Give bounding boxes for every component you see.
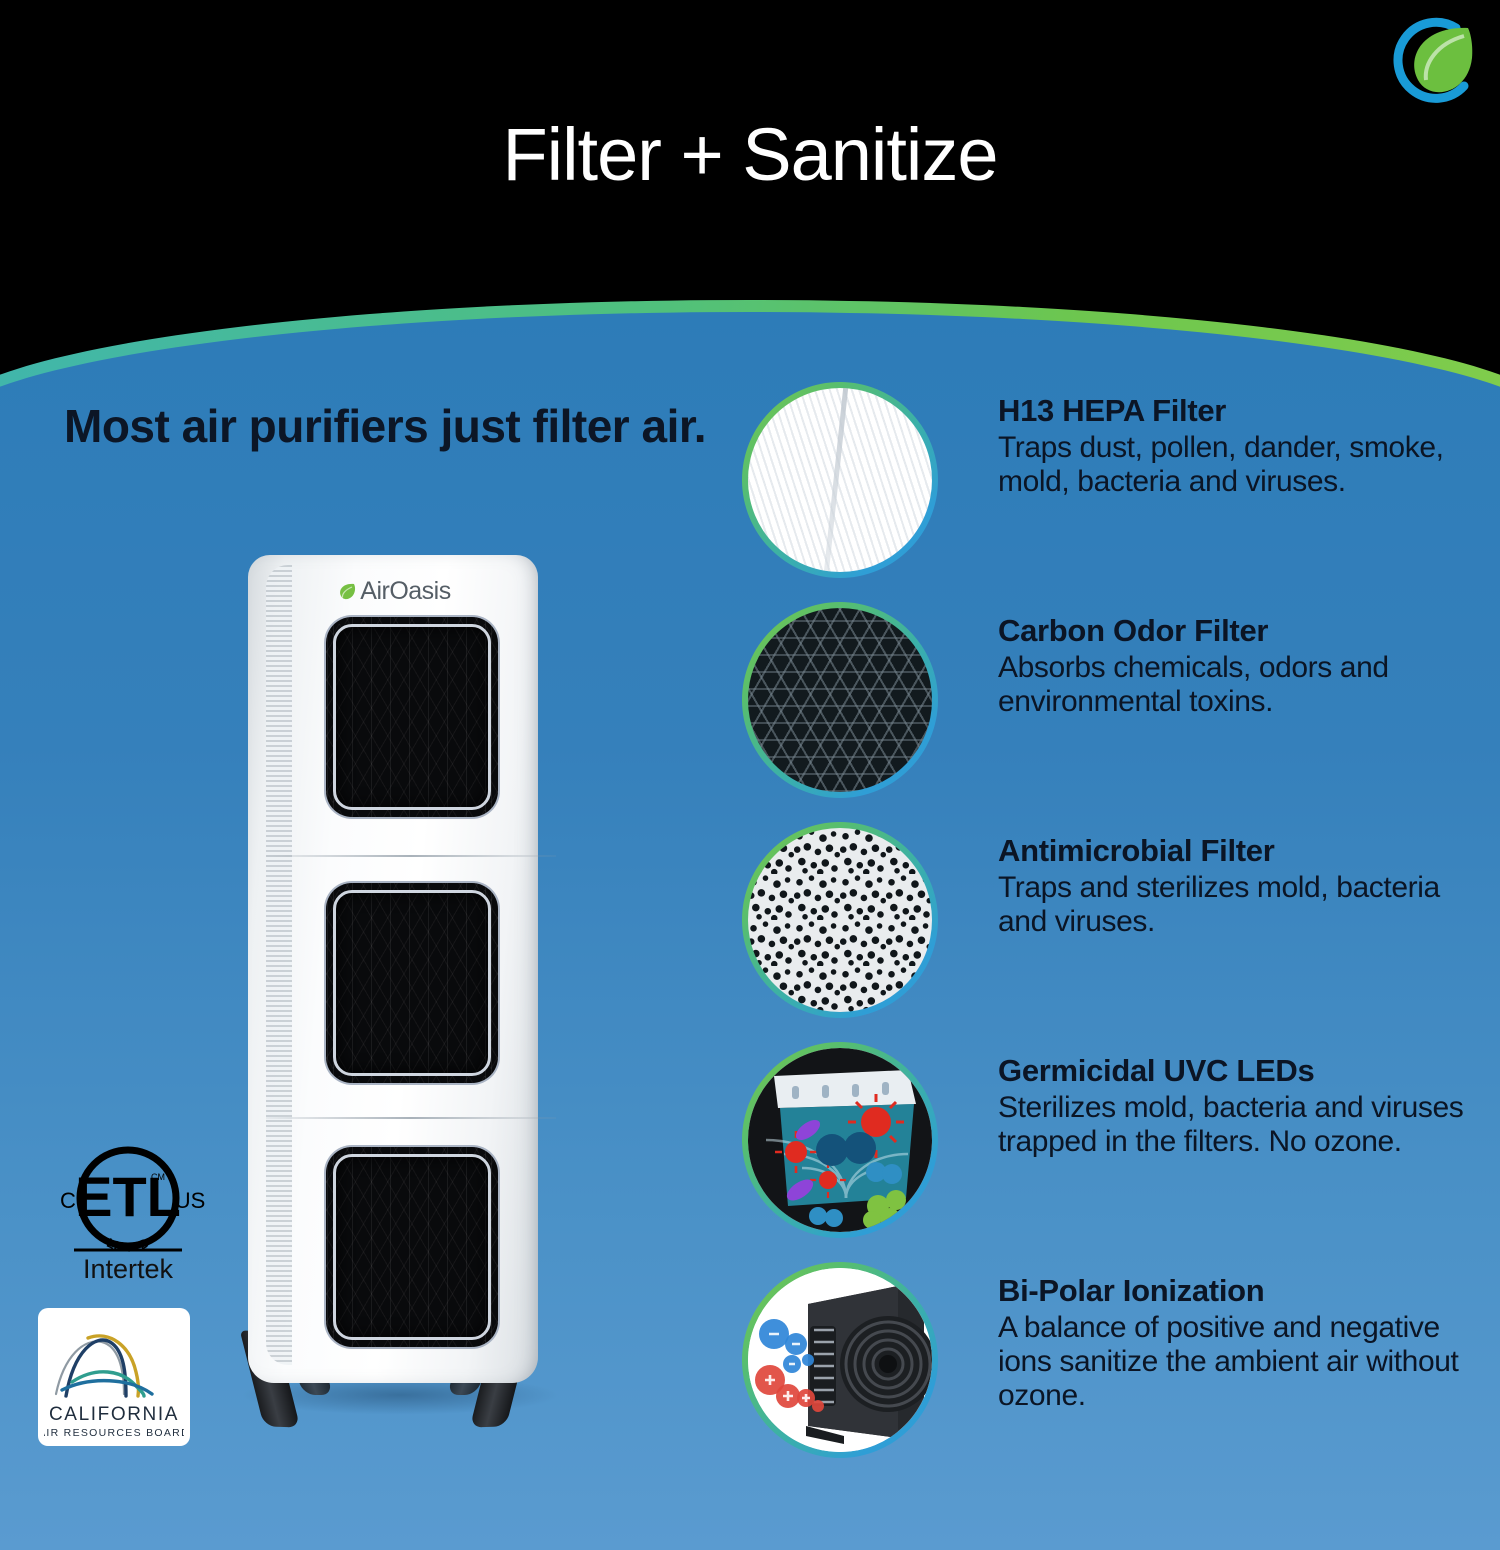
feature-description: Traps and sterilizes mold, bacteria and … [998, 871, 1468, 939]
device-brand-logo: AirOasis [230, 577, 556, 606]
feature-list: H13 HEPA Filter Traps dust, pollen, dand… [742, 382, 1482, 1492]
left-headline: Most air purifiers just filter air. [40, 398, 730, 454]
feature-item: Antimicrobial Filter Traps and sterilize… [742, 822, 1482, 1042]
feature-item: Germicidal UVC LEDs Sterilizes mold, bac… [742, 1042, 1482, 1262]
feature-title: Bi-Polar Ionization [998, 1274, 1468, 1309]
hepa-filter-thumbnail [742, 382, 938, 578]
etl-us-letters: US [175, 1188, 206, 1213]
etl-mark-text: ETL [75, 1165, 181, 1228]
etl-listed-arc-text: LISTED [105, 1235, 152, 1255]
device-side-vent [266, 565, 292, 1365]
device-brand-name: AirOasis [360, 577, 450, 606]
feature-description: A balance of positive and negative ions … [998, 1311, 1468, 1414]
bipolar-ionization-thumbnail [742, 1262, 938, 1458]
device-panel-seam [266, 1117, 556, 1119]
etl-c-letter: C [60, 1188, 76, 1213]
feature-item: Carbon Odor Filter Absorbs chemicals, od… [742, 602, 1482, 822]
feature-item: Bi-Polar Ionization A balance of positiv… [742, 1262, 1482, 1492]
antimicrobial-filter-thumbnail [742, 822, 938, 1018]
california-air-resources-board-badge: CALIFORNIA AIR RESOURCES BOARD [38, 1308, 190, 1446]
feature-item: H13 HEPA Filter Traps dust, pollen, dand… [742, 382, 1482, 602]
air-purifier-product-image: AirOasis [230, 555, 560, 1435]
feature-title: H13 HEPA Filter [998, 394, 1468, 429]
etl-tm-mark: CM [151, 1172, 165, 1182]
carb-title: CALIFORNIA [49, 1404, 179, 1425]
feature-description: Sterilizes mold, bacteria and viruses tr… [998, 1091, 1468, 1159]
feature-title: Germicidal UVC LEDs [998, 1054, 1468, 1089]
device-filter-grille [326, 617, 498, 817]
device-housing [248, 555, 538, 1383]
etl-company-name: Intertek [83, 1254, 174, 1284]
leaf-icon [335, 581, 357, 603]
carbon-filter-thumbnail [742, 602, 938, 798]
feature-title: Carbon Odor Filter [998, 614, 1468, 649]
etl-listed-badge: ETL LISTED C US CM Intertek [38, 1140, 218, 1285]
uvc-led-thumbnail [742, 1042, 938, 1238]
device-panel-seam [266, 855, 556, 857]
device-filter-grille [326, 883, 498, 1083]
feature-description: Traps dust, pollen, dander, smoke, mold,… [998, 431, 1468, 499]
feature-description: Absorbs chemicals, odors and environment… [998, 651, 1468, 719]
device-filter-grille [326, 1147, 498, 1347]
feature-title: Antimicrobial Filter [998, 834, 1468, 869]
carb-subtitle: AIR RESOURCES BOARD [44, 1427, 184, 1439]
